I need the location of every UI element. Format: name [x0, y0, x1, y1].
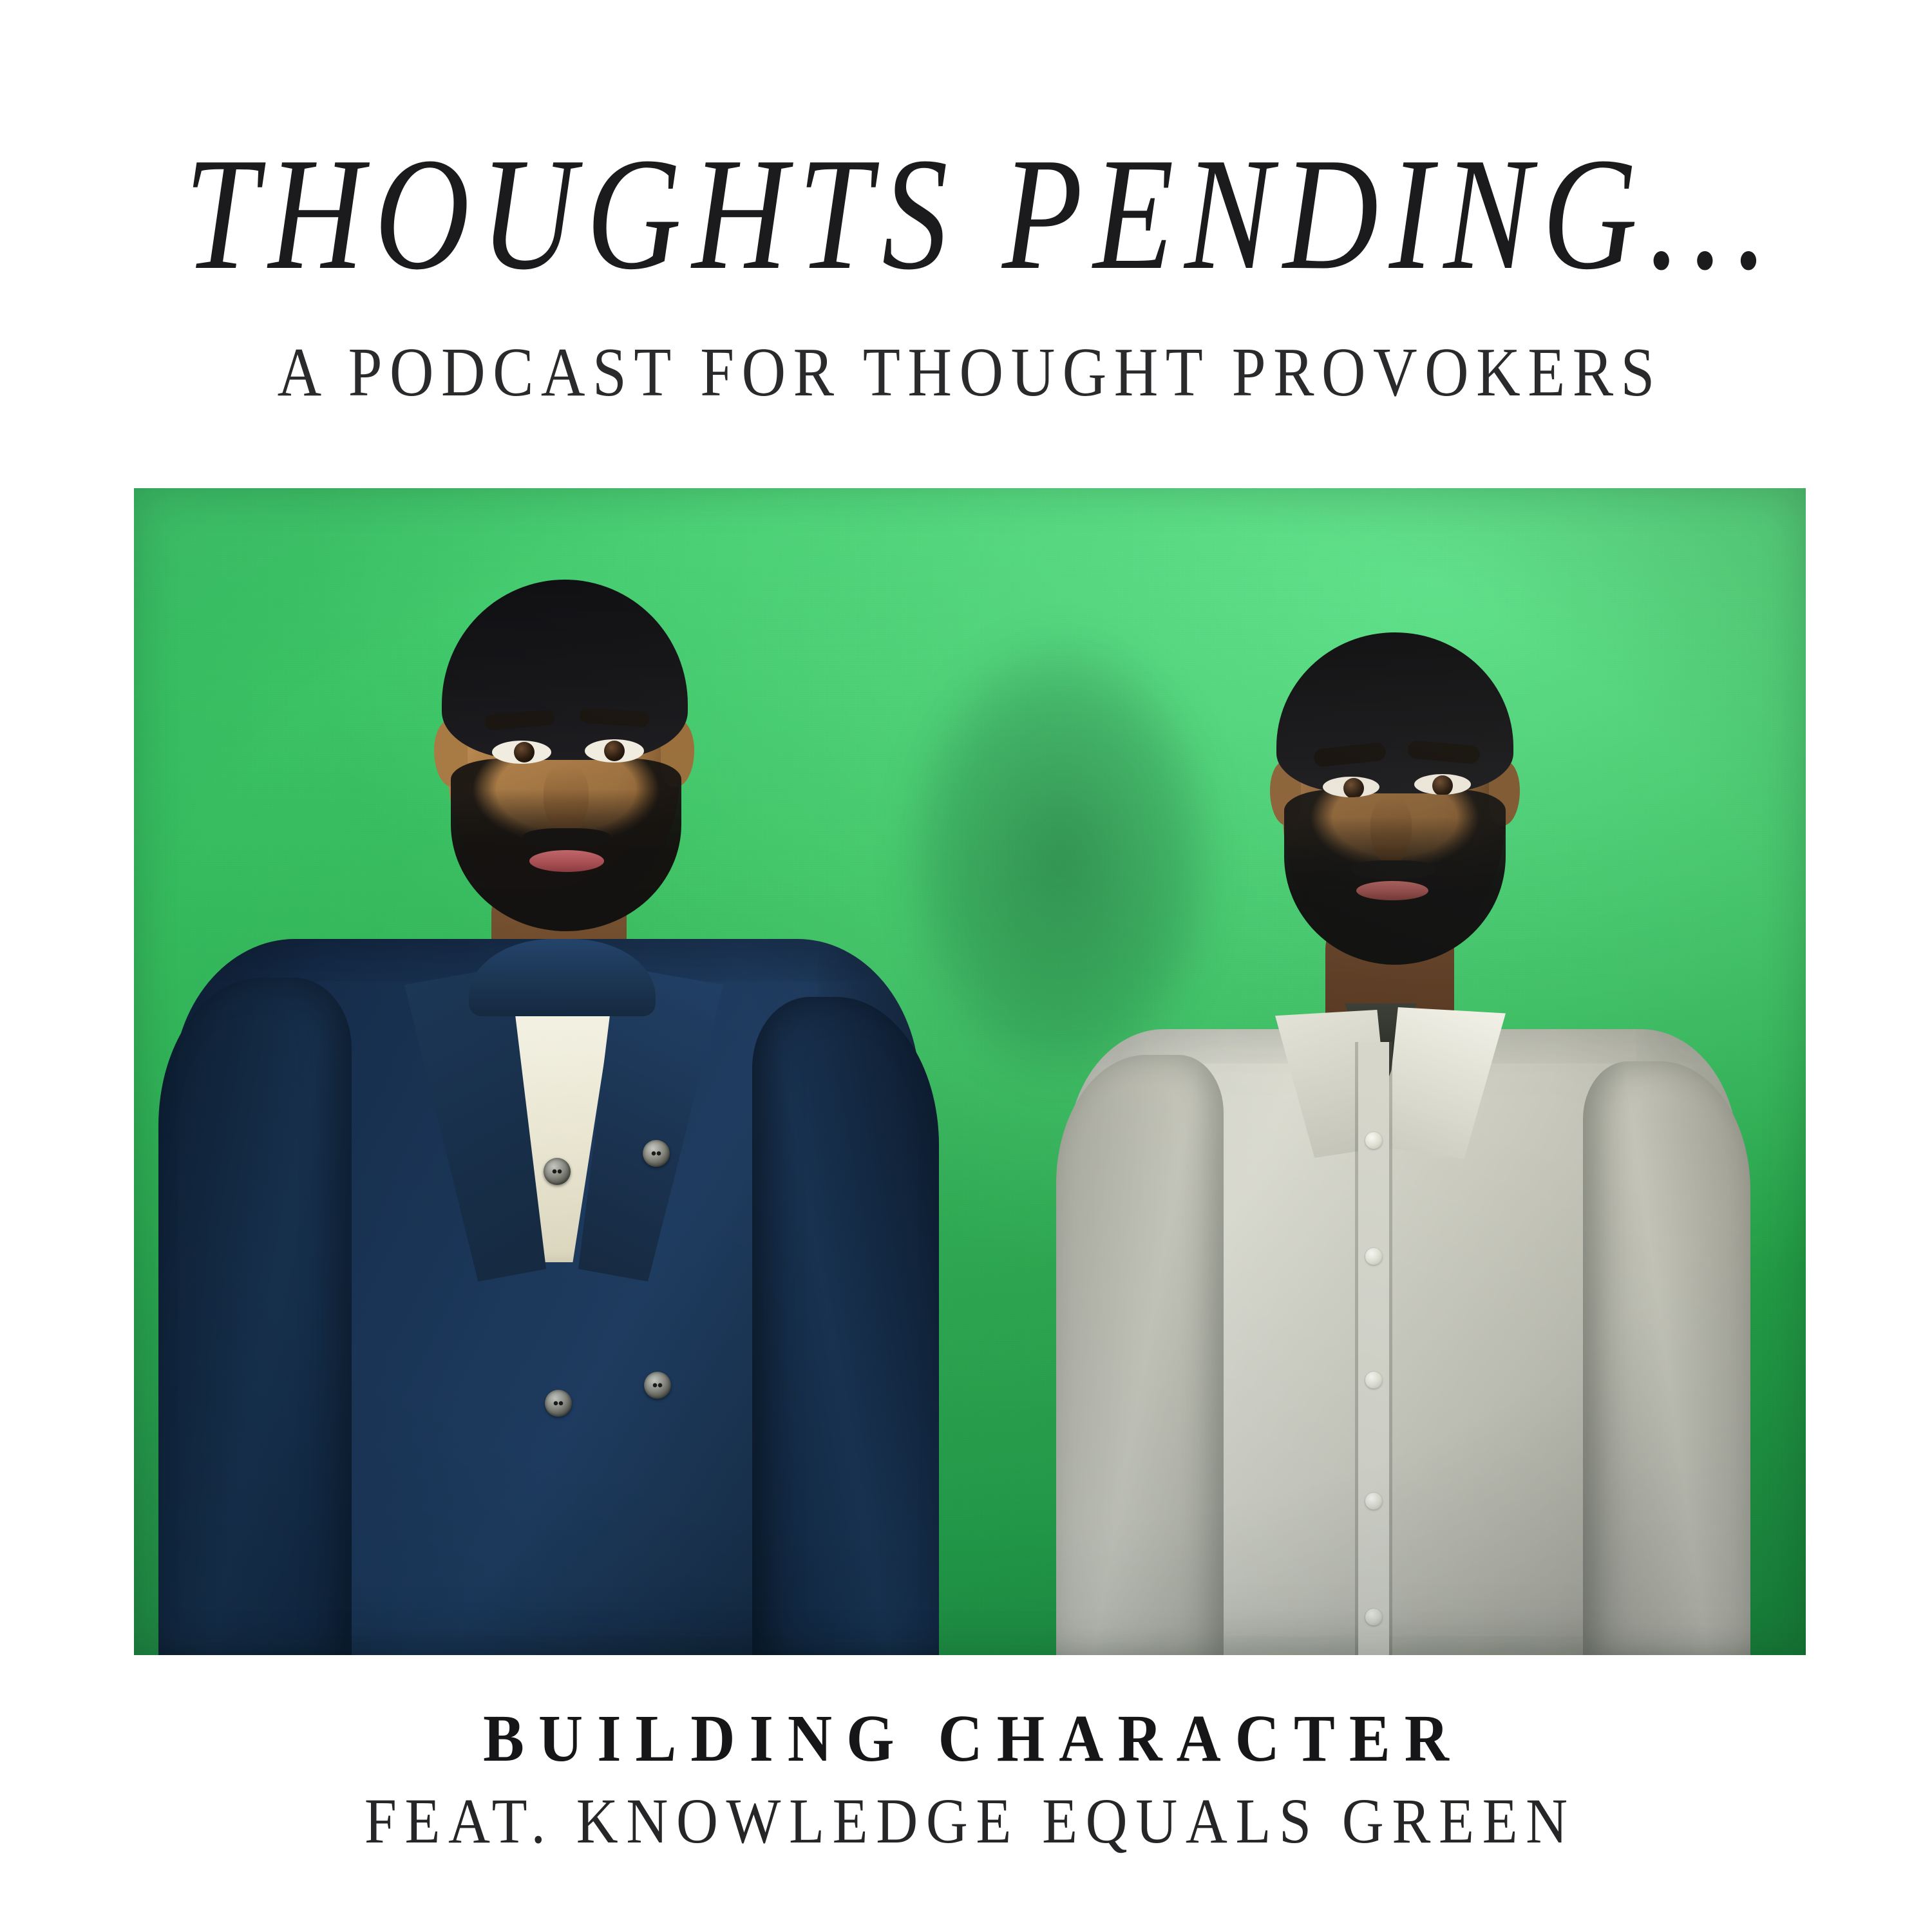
cover-photo [134, 488, 1806, 1655]
page-subtitle: A PODCAST FOR THOUGHT PROVOKERS [116, 338, 1816, 408]
page-title: THOUGHTS PENDING... [174, 134, 1758, 295]
episode-title: BUILDING CHARACTER [77, 1705, 1855, 1772]
episode-feature-credit: FEAT. KNOWLEDGE EQUALS GREEN [97, 1789, 1835, 1853]
podcast-cover-art: THOUGHTS PENDING... A PODCAST FOR THOUGH… [0, 0, 1932, 1932]
photo-vignette [134, 488, 1806, 1655]
